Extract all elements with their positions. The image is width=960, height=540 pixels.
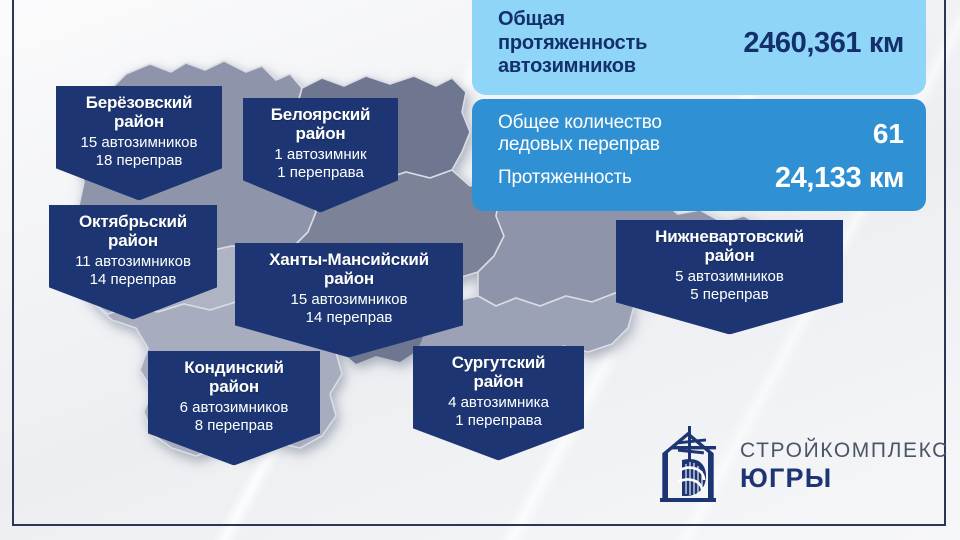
region-title: Берёзовский район xyxy=(68,93,210,131)
region-title: Октябрьский район xyxy=(61,212,205,250)
total-length-card: Общая протяженность автозимников 2460,36… xyxy=(472,0,926,95)
crossings-count-value: 61 xyxy=(873,118,904,150)
region-title: Кондинский район xyxy=(160,358,308,396)
total-length-label: Общая протяженность автозимников xyxy=(498,8,647,79)
crossings-length-value: 24,133 км xyxy=(775,162,904,195)
region-title: Ханты-Мансийский район xyxy=(247,250,451,288)
summary-stats-panel: Общая протяженность автозимников 2460,36… xyxy=(472,0,926,211)
crossings-length-label: Протяженность xyxy=(498,167,632,189)
logo-text: СТРОЙКОМПЛЕКС ЮГРЫ xyxy=(740,440,949,492)
total-length-value: 2460,361 км xyxy=(743,27,904,60)
crossings-card: Общее количество ледовых переправ 61 Про… xyxy=(472,99,926,211)
region-title: Нижневартовский район xyxy=(628,227,831,265)
infographic-canvas: Берёзовский район 15 автозимников 18 пер… xyxy=(0,0,960,540)
logo-line-1: СТРОЙКОМПЛЕКС xyxy=(740,440,949,461)
crossings-count-row: Общее количество ледовых переправ 61 xyxy=(498,112,904,156)
logo-line-2: ЮГРЫ xyxy=(740,465,949,492)
logo[interactable]: СТРОЙКОМПЛЕКС ЮГРЫ xyxy=(658,424,949,508)
building-crane-icon xyxy=(658,424,726,508)
crossings-length-row: Протяженность 24,133 км xyxy=(498,162,904,195)
region-title: Белоярский район xyxy=(255,105,386,143)
crossings-count-label: Общее количество ледовых переправ xyxy=(498,112,662,156)
region-title: Сургутский район xyxy=(425,353,572,391)
